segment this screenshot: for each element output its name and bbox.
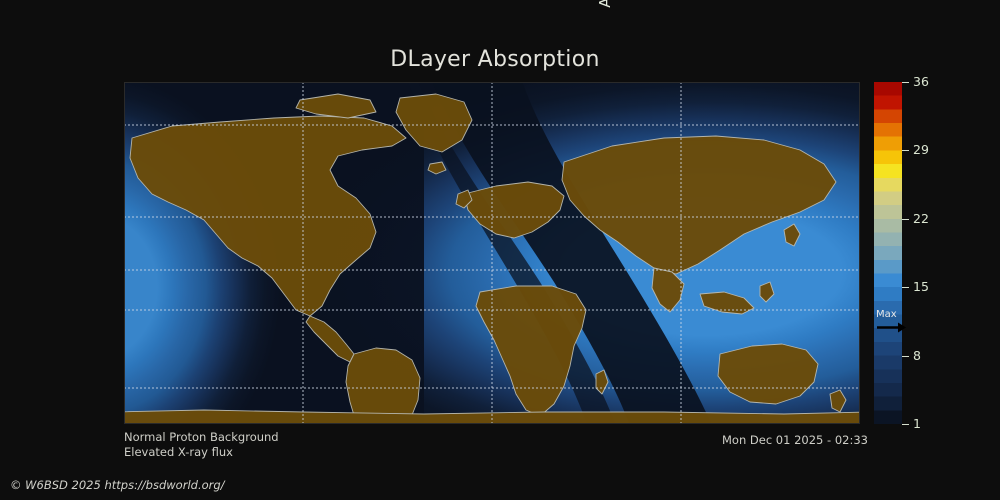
colorbar-tick bbox=[902, 150, 909, 151]
colorbar-axis-label: Affected Frequency (MHz) bbox=[938, 0, 960, 82]
colorbar-tick-label: 36 bbox=[913, 76, 929, 89]
map-plot-area[interactable] bbox=[124, 82, 860, 424]
colorbar-axis-label-text: Affected Frequency (MHz) bbox=[596, 0, 614, 82]
xray-status-note: Elevated X-ray flux bbox=[124, 445, 233, 459]
colorbar-tick-label: 29 bbox=[913, 144, 929, 157]
colorbar-tick-label: 22 bbox=[913, 213, 929, 226]
page-title: DLayer Absorption bbox=[0, 47, 990, 72]
proton-status-note: Normal Proton Background bbox=[124, 430, 279, 444]
colorbar-tick bbox=[902, 219, 909, 220]
figure-canvas: DLayer Absorption bbox=[0, 0, 1000, 500]
colorbar-tick bbox=[902, 356, 909, 357]
footer-credit: © W6BSD 2025 https://bsdworld.org/ bbox=[10, 478, 225, 492]
colorbar-tick-label: 8 bbox=[913, 350, 921, 363]
timestamp-label: Mon Dec 01 2025 - 02:33 bbox=[722, 433, 868, 447]
colorbar-tick bbox=[902, 424, 909, 425]
colorbar[interactable]: Max 1815222936 bbox=[874, 82, 902, 424]
colorbar-tick-label: 15 bbox=[913, 281, 929, 294]
colorbar-gradient bbox=[874, 82, 902, 424]
colorbar-tick bbox=[902, 82, 909, 83]
colorbar-tick bbox=[902, 287, 909, 288]
colorbar-tick-label: 1 bbox=[913, 418, 921, 431]
world-map bbox=[124, 82, 860, 424]
